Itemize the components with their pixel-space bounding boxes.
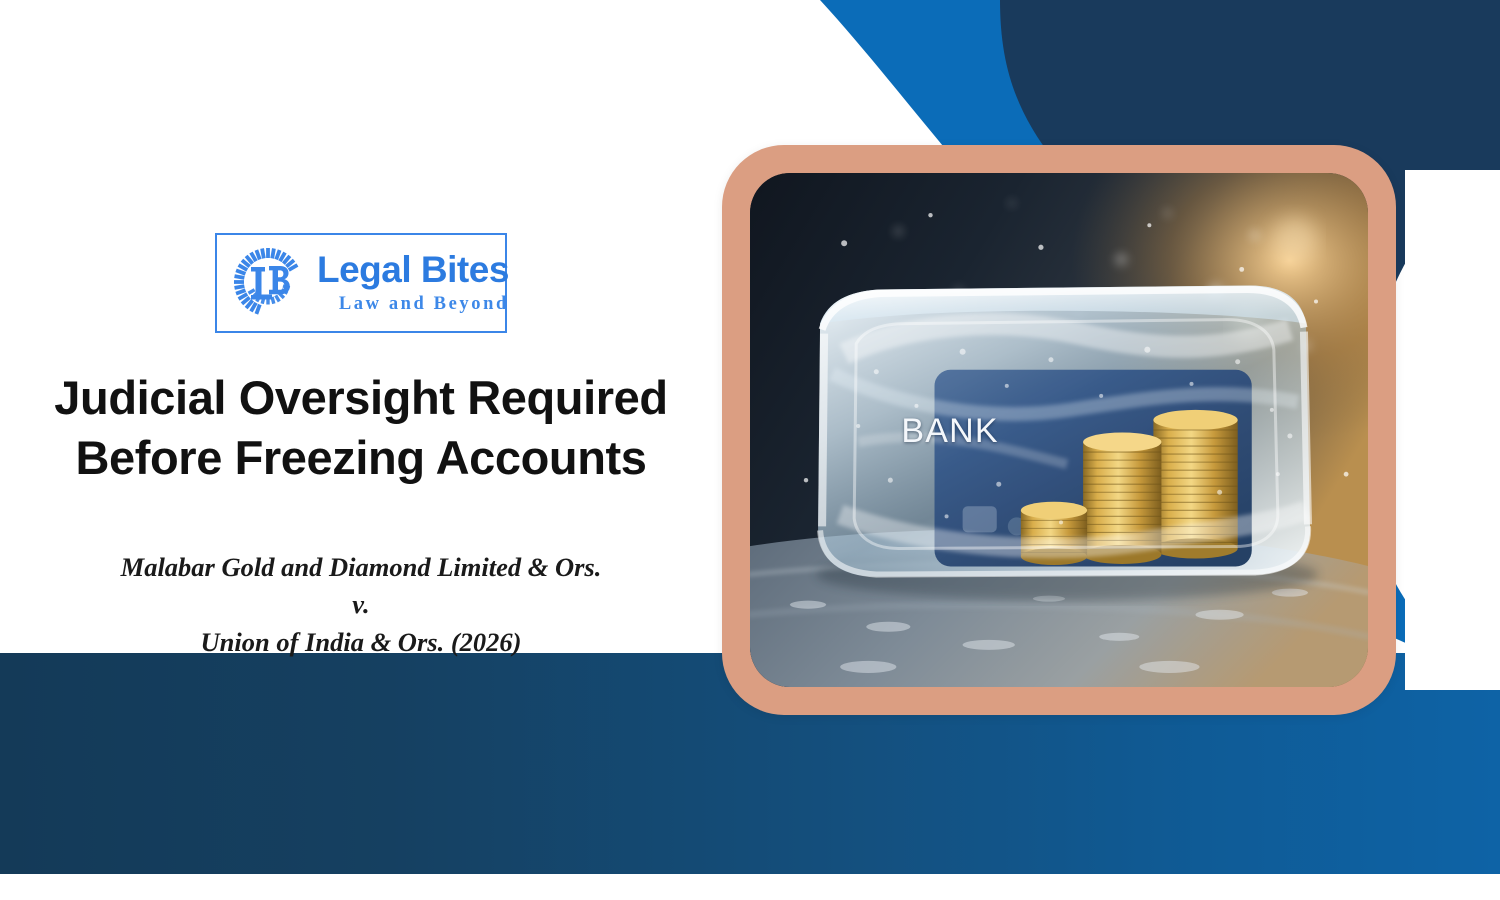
case-citation-versus: v. — [121, 586, 602, 624]
logo-wordmark: Legal Bites Law and Beyond — [317, 251, 509, 314]
case-citation: Malabar Gold and Diamond Limited & Ors. … — [121, 549, 602, 662]
page-title: Judicial Oversight Required Before Freez… — [54, 368, 667, 487]
page-title-line-1: Judicial Oversight Required — [54, 368, 667, 428]
case-citation-respondent: Union of India & Ors. (2026) — [121, 624, 602, 662]
logo-title: Legal Bites — [317, 251, 509, 288]
poster-canvas: Legal Bites Law and Beyond Judicial Over… — [0, 0, 1500, 900]
white-curve-fill — [1405, 170, 1500, 690]
case-citation-petitioner: Malabar Gold and Diamond Limited & Ors. — [121, 549, 602, 587]
logo-tagline: Law and Beyond — [339, 295, 509, 314]
hero-image-frame: BANK — [722, 145, 1396, 715]
page-title-line-2: Before Freezing Accounts — [54, 428, 667, 488]
left-content-column: Legal Bites Law and Beyond Judicial Over… — [0, 0, 722, 653]
legal-bites-logo[interactable]: Legal Bites Law and Beyond — [215, 233, 507, 333]
lb-monogram-radial-icon — [231, 245, 305, 319]
frozen-bank-card-in-ice-block: BANK — [750, 173, 1368, 687]
